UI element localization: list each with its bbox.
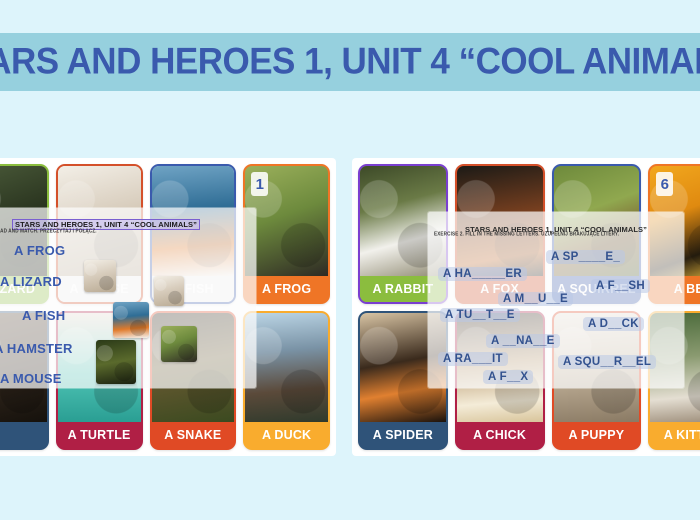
frog-thumb-image (161, 326, 197, 362)
gapfill-chip[interactable]: A F__X (483, 370, 533, 384)
fish-thumb-image (113, 302, 149, 338)
gapfill-chip[interactable]: A D__CK (583, 317, 644, 331)
animal-card-label: A PUPPY (554, 422, 640, 448)
overlay-left-subtitle: EXERCISE 1. READ AND MATCH. PRZECZYTAJ I… (0, 228, 97, 234)
fish-thumb[interactable] (113, 302, 149, 338)
animal-card-label (0, 422, 47, 448)
gapfill-chip[interactable]: A SP____E_ (546, 250, 625, 264)
exercise-2-overlay: STARS AND HEROES 1, UNIT 4 “COOL ANIMALS… (428, 212, 684, 388)
overlay-right-subtitle: EXERCISE 2. FILL IN THE MISSING LETTERS.… (434, 231, 619, 237)
exercise-1-overlay: STARS AND HEROES 1, UNIT 4 “COOL ANIMALS… (0, 208, 256, 388)
frog-thumb[interactable] (161, 326, 197, 362)
gapfill-chip[interactable]: A RA___IT (438, 352, 508, 366)
animal-card-label: A DUCK (245, 422, 328, 448)
card-number-badge: 1 (251, 172, 268, 196)
overlay-word[interactable]: A FROG (14, 243, 65, 258)
duck-image (245, 313, 328, 423)
lizard-thumb-image (96, 340, 136, 384)
animal-card-label: A SPIDER (360, 422, 446, 448)
animal-card-label: A KITTEN (650, 422, 700, 448)
gapfill-chip[interactable]: A __NA__E (486, 334, 560, 348)
slide-canvas: STARS AND HEROES 1, UNIT 4 “COOL ANIMALS… (0, 0, 700, 520)
title-banner: STARS AND HEROES 1, UNIT 4 “COOL ANIMALS… (0, 33, 700, 91)
mouse-thumb[interactable] (154, 276, 184, 306)
gapfill-chip[interactable]: A M__U__E (498, 292, 573, 306)
gapfill-chip[interactable]: A SQU__R__EL (558, 355, 656, 369)
animal-card-label: A TURTLE (58, 422, 141, 448)
animal-card-label: A SNAKE (152, 422, 235, 448)
overlay-word[interactable]: A FISH (22, 308, 65, 323)
lizard-thumb[interactable] (96, 340, 136, 384)
overlay-word[interactable]: A MOUSE (0, 371, 62, 386)
animal-card[interactable]: A DUCK (243, 311, 330, 451)
hamster-thumb[interactable] (84, 260, 116, 292)
animal-card-label: A CHICK (457, 422, 543, 448)
overlay-word[interactable]: A HAMSTER (0, 341, 73, 356)
mouse-thumb-image (154, 276, 184, 306)
animal-photo (245, 313, 328, 423)
gapfill-chip[interactable]: A HA_____ER (438, 267, 527, 281)
hamster-thumb-image (84, 260, 116, 292)
card-number-badge: 6 (656, 172, 673, 196)
banner-title: STARS AND HEROES 1, UNIT 4 “COOL ANIMALS… (0, 41, 700, 83)
animal-card[interactable]: 1A FROG (243, 164, 330, 304)
overlay-word[interactable]: A LIZARD (0, 274, 62, 289)
animal-photo: 1 (245, 166, 328, 276)
animal-card-label: A FROG (245, 276, 328, 302)
gapfill-chip[interactable]: A TU__T__E (440, 308, 520, 322)
gapfill-chip[interactable]: A F__SH (591, 279, 650, 293)
